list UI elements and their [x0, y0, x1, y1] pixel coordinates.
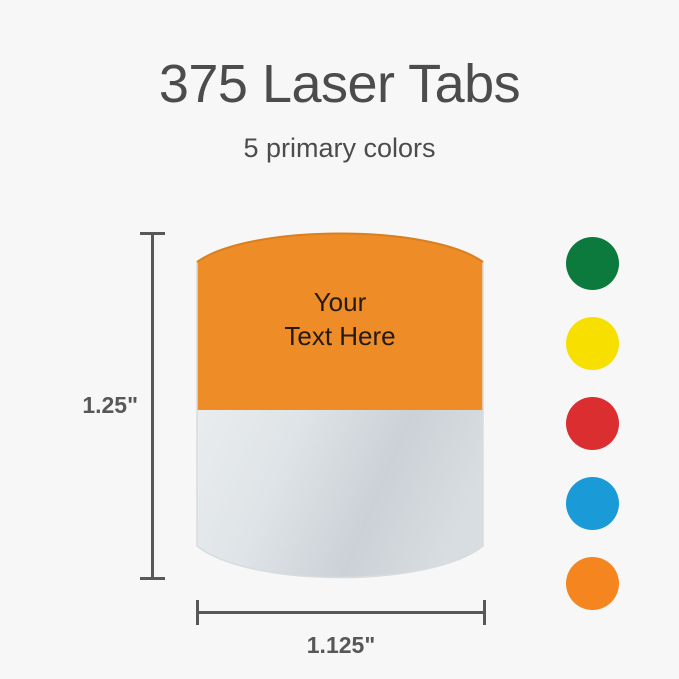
color-swatch-orange [566, 557, 619, 610]
width-dimension-cap-right [483, 600, 486, 625]
color-swatch-yellow [566, 317, 619, 370]
width-dimension-line [196, 611, 486, 614]
width-dimension-cap-left [196, 600, 199, 625]
product-feature-image: 375 Laser Tabs 5 primary colors [0, 0, 679, 679]
height-dimension-label: 1.25" [28, 391, 138, 419]
page-title: 375 Laser Tabs [0, 52, 679, 116]
color-swatch-blue [566, 477, 619, 530]
width-dimension-label: 1.125" [191, 631, 491, 659]
height-dimension-cap-top [140, 232, 165, 235]
color-swatch-list [566, 237, 626, 610]
tab-upper-color-band [190, 226, 490, 410]
tab-lower-white-area [190, 410, 490, 586]
height-dimension-cap-bottom [140, 577, 165, 580]
tab-illustration [190, 226, 490, 586]
height-dimension-line [151, 232, 154, 580]
page-subtitle: 5 primary colors [0, 131, 679, 165]
color-swatch-red [566, 397, 619, 450]
color-swatch-green [566, 237, 619, 290]
